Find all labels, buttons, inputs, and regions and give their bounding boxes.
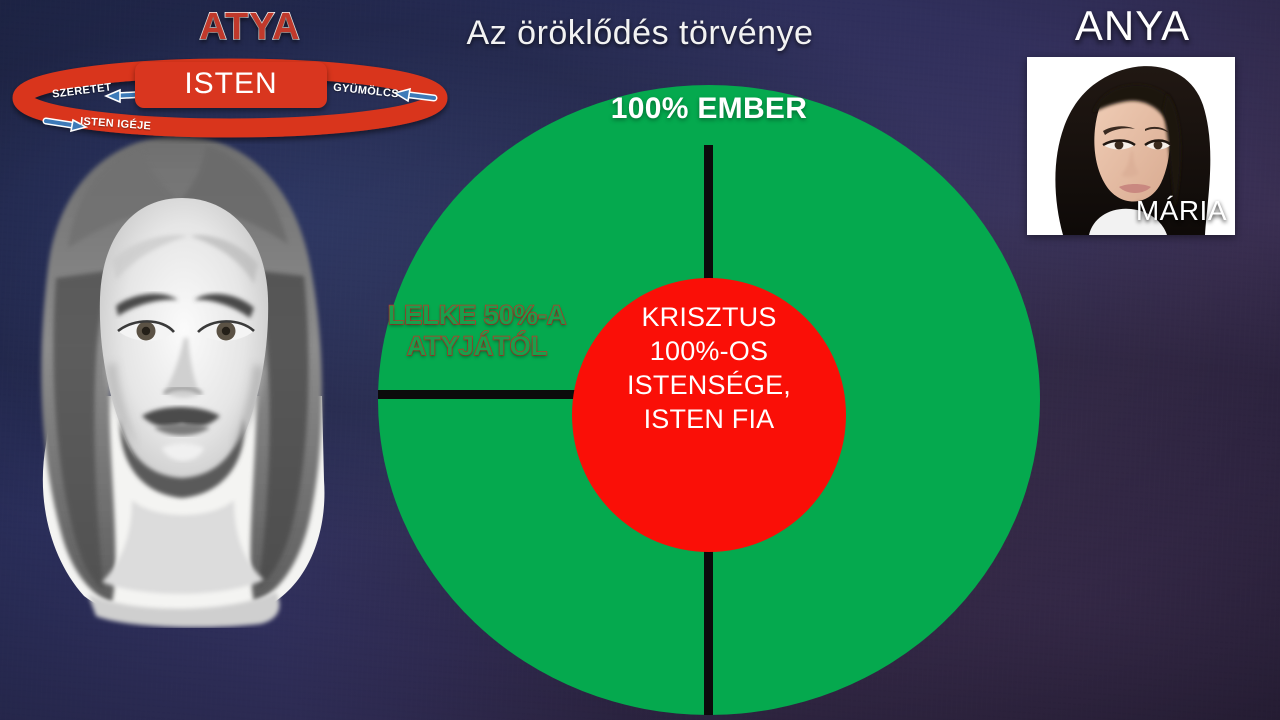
father-heading: ATYA — [150, 6, 350, 49]
slide-canvas: Az öröklődés törvénye ATYA — [0, 0, 1280, 720]
isten-label: ISTEN — [135, 67, 327, 101]
maria-label: MÁRIA — [1027, 195, 1227, 227]
soul-label: LELKE 50%-A ATYJÁTÓL — [378, 300, 576, 362]
divider-horizontal — [378, 390, 578, 399]
deity-text: KRISZTUS 100%-OS ISTENSÉGE, ISTEN FIA — [572, 300, 846, 436]
maria-photo: MÁRIA — [1027, 57, 1235, 235]
mother-heading: ANYA — [1025, 2, 1240, 50]
jesus-portrait-image — [0, 128, 367, 628]
human-label: 100% EMBER — [378, 92, 1040, 126]
